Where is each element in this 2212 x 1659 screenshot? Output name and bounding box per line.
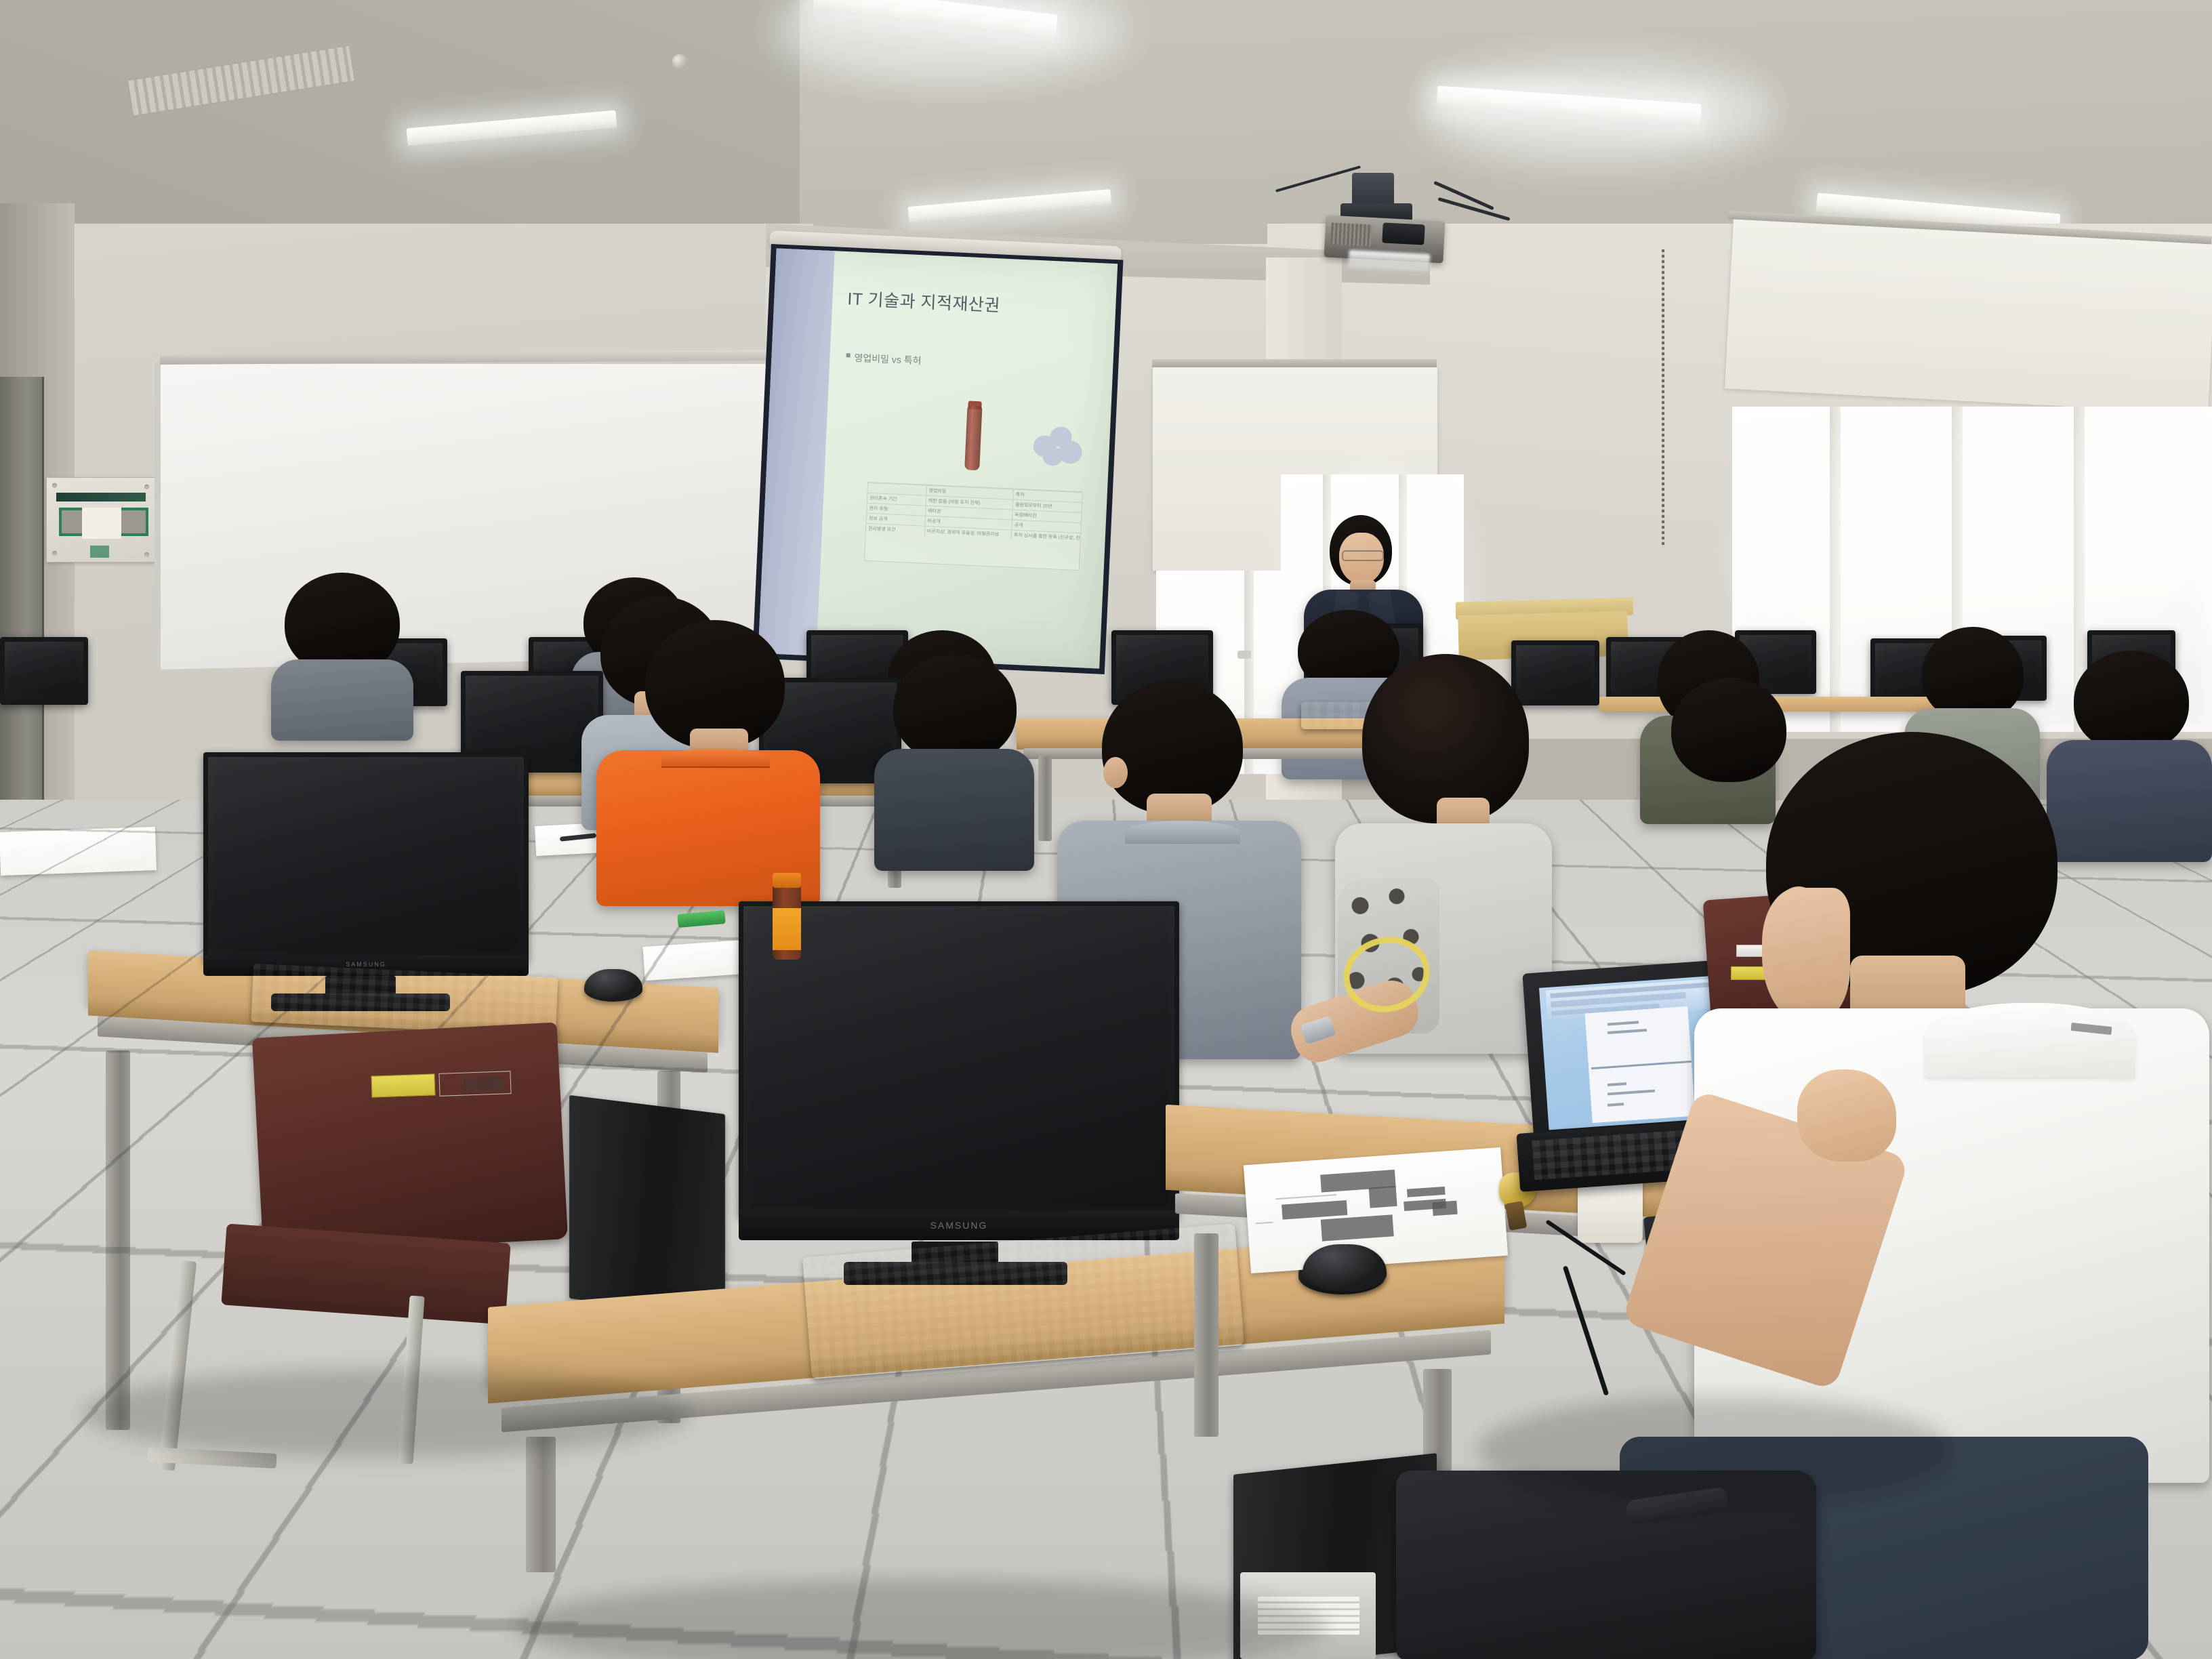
chair-backrest <box>252 1022 568 1254</box>
student-head <box>893 654 1017 762</box>
mouse[interactable] <box>584 969 642 1002</box>
monitor-brand-logo: SAMSUNG <box>203 961 529 968</box>
monitor: SAMSUNG <box>203 752 529 983</box>
shirt-collar <box>1125 821 1240 844</box>
slide-table-cell: 권리발생 요건 <box>866 524 925 536</box>
door[interactable] <box>0 377 44 811</box>
blind-pull-chain[interactable] <box>1662 249 1664 548</box>
paper-sheet <box>0 827 157 876</box>
wall-plaque <box>46 477 156 562</box>
student-head <box>1922 627 2024 722</box>
slide-bullet-marker <box>846 353 851 357</box>
student <box>271 573 407 722</box>
slide-table: 영업비밀특허권리존속 기간제한 없음 (비밀 유지 전제)출원일로부터 20년권… <box>864 482 1083 571</box>
bottle-label <box>773 908 801 950</box>
student-face <box>1762 888 1850 1023</box>
projection-screen: IT 기술과 지적재산권 영업비밀 vs 특허 영업비밀특허권리존속 기간제한 … <box>752 244 1123 674</box>
window-handle[interactable] <box>1237 651 1251 659</box>
monitor <box>0 637 88 705</box>
student-orange-polo <box>596 620 820 905</box>
student-shirt <box>874 749 1034 871</box>
plaque-text-block <box>82 508 121 539</box>
student-shirt <box>271 659 413 741</box>
plaque-title-bar <box>56 493 146 501</box>
molecule-blob-icon <box>1033 426 1084 468</box>
polo-collar <box>1925 1003 2135 1078</box>
student-hand <box>1797 1069 1896 1162</box>
paper-sheet <box>642 940 746 981</box>
projector-vent-grille <box>1330 222 1372 246</box>
barcode-sticker <box>438 1071 511 1097</box>
monitor-brand-logo: SAMSUNG <box>739 1220 1179 1231</box>
monitor: SAMSUNG <box>739 901 1179 1247</box>
mouse[interactable] <box>1303 1244 1387 1292</box>
cola-bottle-icon <box>964 405 982 470</box>
asset-tag <box>371 1073 435 1097</box>
classroom-photo: IT 기술과 지적재산권 영업비밀 vs 특허 영업비밀특허권리존속 기간제한 … <box>0 0 2212 1659</box>
instructor-glasses-icon <box>1342 550 1384 561</box>
projector-lens <box>1382 222 1425 245</box>
paper-cup <box>1578 1179 1643 1243</box>
student <box>874 654 1030 857</box>
student-ear <box>1103 757 1128 788</box>
plaque-seal <box>90 546 109 558</box>
roller-blind[interactable] <box>1724 219 2212 413</box>
bottle-cap <box>773 873 801 888</box>
polo-collar <box>661 749 770 768</box>
blind-rail <box>1152 359 1437 367</box>
plaque-emblem-right <box>119 508 148 536</box>
sprinkler-head <box>672 54 687 69</box>
student-woman <box>1328 654 1552 1074</box>
